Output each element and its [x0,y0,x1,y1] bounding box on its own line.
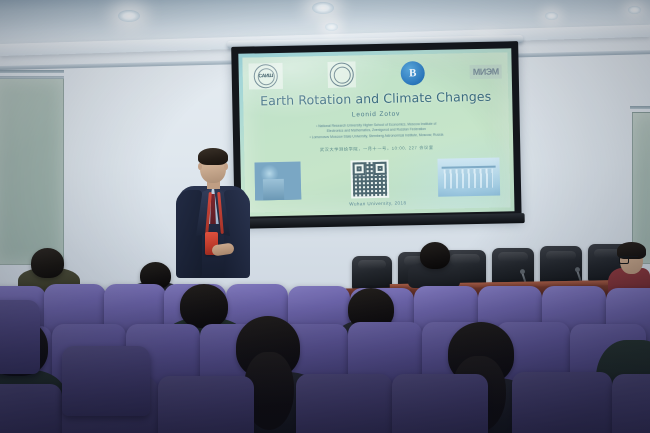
slide-author: Leonid Zotov [244,108,509,120]
glasses-icon [619,256,638,263]
presenter-ear-left [198,163,202,170]
left-board-trim [0,70,64,73]
auditorium-seat [296,374,392,433]
sternberg-logo-text: САИШ [258,73,273,79]
qr-code-pattern [352,162,387,197]
presenter-lanyard [207,192,222,234]
qr-code [350,160,389,199]
exec-chair [492,248,534,285]
screen-surface: САИШ В МИЭМ Earth Rotation and Climate C… [238,48,514,216]
right-board-trim [630,106,650,109]
exec-chair [540,246,582,284]
right-wall-board [632,112,650,264]
campus-building-photo [437,158,500,197]
auditorium-seat [512,372,612,433]
ceiling-downlight [545,12,558,20]
attendee-head [420,242,450,269]
auditorium-seat [158,376,254,433]
presenter [176,148,250,278]
ceiling-downlight [312,2,334,14]
ceiling-downlight [118,10,140,22]
attendee-head [180,284,228,328]
hse-logo: В [401,61,425,85]
sternberg-institute-logo: САИШ [249,63,284,90]
slide-media-row [254,157,500,202]
slide-affiliations: ¹ National Research University Higher Sc… [258,121,495,142]
auditorium-seat [612,374,650,433]
msu-building-icon [330,62,354,86]
observatory-photo [254,162,301,201]
ceiling-downlight [628,6,641,14]
presenter-hair [198,148,228,165]
auditorium-seat [0,300,40,374]
projected-slide: САИШ В МИЭМ Earth Rotation and Climate C… [242,52,510,212]
sternberg-emblem-icon: САИШ [254,64,278,88]
lecture-hall-photo: САИШ В МИЭМ Earth Rotation and Climate C… [0,0,650,433]
left-board-trim [0,76,64,79]
ceiling-downlight [325,23,338,31]
msu-logo [328,61,357,88]
auditorium-seat [62,346,150,416]
exec-chair [352,256,392,290]
auditorium-seat [0,384,62,433]
projection-screen-assembly: САИШ В МИЭМ Earth Rotation and Climate C… [231,41,522,233]
slide-logo-row: САИШ В МИЭМ [248,56,502,91]
auditorium-seat [392,374,488,433]
attendee-head [31,248,64,278]
slide-chinese-line: 武汉大学测绘学院，一月十一号，10:00, 227 会议室 [244,143,509,154]
slide-title: Earth Rotation and Climate Changes [243,88,508,108]
presenter-ear-right [224,163,228,170]
miem-logo: МИЭМ [470,64,502,79]
left-wall-board [0,78,64,265]
